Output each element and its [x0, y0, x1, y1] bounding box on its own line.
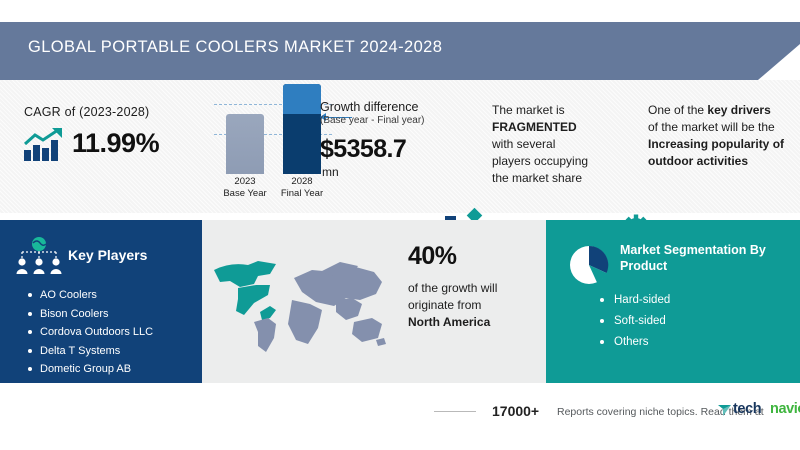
detail-row: Key Players AO Coolers Bison Coolers Cor…: [0, 220, 800, 383]
fragmentation-line3: players occupying: [492, 154, 588, 168]
page-title: GLOBAL PORTABLE COOLERS MARKET 2024-2028: [28, 38, 442, 57]
list-item: Bison Coolers: [26, 305, 153, 324]
list-item: Soft-sided: [598, 311, 670, 332]
segmentation-panel: Market Segmentation By Product Hard-side…: [546, 220, 800, 383]
base-year-value: 2023: [234, 176, 255, 187]
segmentation-title: Market Segmentation By Product: [620, 242, 790, 274]
drivers-highlight2: Increasing popularity of outdoor activit…: [648, 137, 784, 168]
bar-base-year: [226, 114, 264, 174]
list-item: Others: [598, 332, 670, 353]
final-year-sublabel: Final Year: [281, 188, 323, 199]
report-count: 17000+: [492, 403, 539, 419]
key-drivers-text: One of the key drivers of the market wil…: [648, 102, 796, 170]
fragmentation-highlight: FRAGMENTED: [492, 120, 577, 134]
list-item: Dometic Group AB: [26, 360, 153, 379]
region-percent: 40%: [408, 242, 457, 271]
technavio-arrow-icon: [718, 404, 731, 417]
logo-text-tech: tech: [733, 401, 761, 417]
key-players-panel: Key Players AO Coolers Bison Coolers Cor…: [0, 220, 202, 383]
stats-row: CAGR of (2023-2028) 11.99% 2023: [0, 80, 800, 213]
footer-divider: [434, 411, 476, 412]
region-name: North America: [408, 315, 490, 329]
fragmentation-line2: with several: [492, 137, 555, 151]
region-text-line2: originate from: [408, 298, 481, 312]
fragmentation-line1: The market is: [492, 103, 565, 117]
list-item: Delta T Systems: [26, 342, 153, 361]
list-item: AO Coolers: [26, 286, 153, 305]
growth-difference-subtitle: (Base year - Final year): [320, 115, 424, 126]
growth-difference-title: Growth difference: [320, 100, 418, 115]
infographic-canvas: GLOBAL PORTABLE COOLERS MARKET 2024-2028…: [0, 0, 800, 450]
base-year-sublabel: Base Year: [223, 188, 266, 199]
logo-text-navio: navio: [770, 401, 800, 417]
final-year-value: 2028: [291, 176, 312, 187]
fragmentation-text: The market is FRAGMENTED with several pl…: [492, 102, 612, 187]
pie-chart-icon: [564, 240, 614, 290]
growth-difference-unit: mn: [322, 165, 339, 179]
bar-label-base-year: 2023 Base Year: [218, 176, 272, 200]
footer: 17000+ Reports covering niche topics. Re…: [0, 383, 800, 450]
segmentation-list: Hard-sided Soft-sided Others: [598, 290, 670, 353]
growth-difference-chart: 2023 Base Year 2028 Final Year: [210, 92, 335, 202]
list-item: Hard-sided: [598, 290, 670, 311]
drivers-line2: of the market will be the: [648, 120, 775, 134]
region-text: of the growth will originate from North …: [408, 280, 543, 331]
growth-difference-value: $5358.7: [320, 135, 406, 164]
fragmentation-line4: the market share: [492, 171, 582, 185]
bar-label-final-year: 2028 Final Year: [275, 176, 329, 200]
world-map-icon: [208, 248, 398, 358]
list-item: Cordova Outdoors LLC: [26, 323, 153, 342]
people-network-globe-icon: [14, 236, 64, 278]
bar-growth-segment: [283, 84, 321, 114]
header-banner: GLOBAL PORTABLE COOLERS MARKET 2024-2028: [0, 22, 800, 80]
drivers-highlight1: key drivers: [707, 103, 770, 117]
region-text-line1: of the growth will: [408, 281, 497, 295]
key-players-list: AO Coolers Bison Coolers Cordova Outdoor…: [26, 286, 153, 379]
region-panel: 40% of the growth will originate from No…: [202, 220, 546, 383]
cagr-label: CAGR of (2023-2028): [24, 105, 149, 119]
cagr-value: 11.99%: [72, 128, 159, 159]
key-players-title: Key Players: [68, 247, 147, 263]
bar-final-year: [283, 84, 321, 174]
drivers-line1: One of the: [648, 103, 704, 117]
bar-chart-growth-icon: [22, 128, 68, 162]
